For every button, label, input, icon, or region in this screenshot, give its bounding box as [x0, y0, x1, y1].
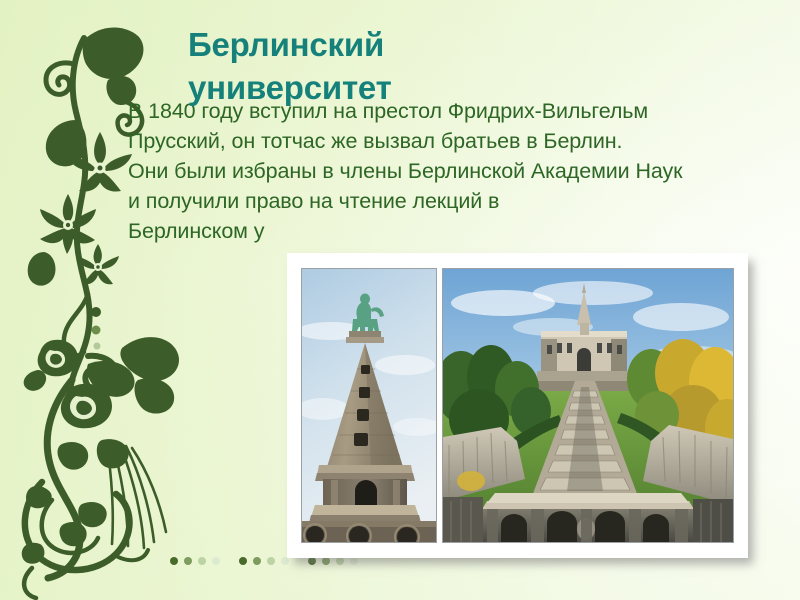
dot	[267, 557, 275, 565]
wilhelmshohe-cascades-photo	[442, 268, 734, 543]
dot	[322, 557, 330, 565]
dot	[308, 557, 316, 565]
photo-frame	[287, 253, 748, 558]
dot	[281, 557, 289, 565]
dot	[198, 557, 206, 565]
slide: Берлинский университет В 1840 году вступ…	[0, 0, 800, 600]
dot	[336, 557, 344, 565]
body-paragraph: В 1840 году вступил на престол Фридрих-В…	[128, 96, 688, 246]
dot-group	[170, 557, 226, 565]
dot	[350, 557, 358, 565]
dot	[170, 557, 178, 565]
dot	[239, 557, 247, 565]
page-title: Берлинский университет	[188, 24, 538, 110]
hercules-monument-pyramid-photo	[301, 268, 437, 543]
dot	[212, 557, 220, 565]
decorative-dot-row	[170, 557, 377, 565]
dot-group	[239, 557, 295, 565]
dot	[184, 557, 192, 565]
dot-group	[308, 557, 364, 565]
dot	[253, 557, 261, 565]
